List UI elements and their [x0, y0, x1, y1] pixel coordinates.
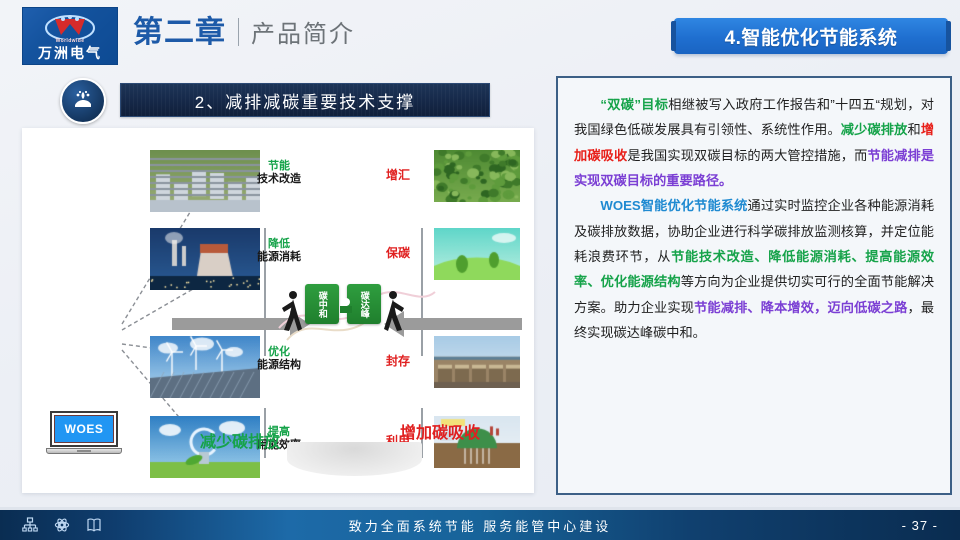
slide-footer: 致力全面系统节能 服务能管中心建设 - 37 - [0, 510, 960, 540]
label-line1: 节能 [234, 160, 324, 173]
diagram-card: 节能 技术改造 降低 能源消耗 优化 能源结构 提高 用能效率 增汇 [22, 128, 534, 493]
laptop-screen: WOES [50, 411, 118, 447]
carbon-peak-label: 碳达峰 [359, 291, 368, 318]
diagram-label-right-0: 增汇 [386, 166, 410, 183]
worker-figure-left-icon [280, 288, 304, 334]
photo-green-earth [434, 228, 520, 280]
section-title-text: 2、减排减碳重要技术支撑 [195, 88, 415, 113]
photo-storage-site [434, 336, 520, 388]
footer-slogan: 致力全面系统节能 服务能管中心建设 [0, 516, 960, 535]
description-panel: “双碳”目标相继被写入政府工作报告和”十四五“规划，对我国绿色低碳发展具有引领性… [556, 76, 952, 495]
section-title-bar: 2、减排减碳重要技术支撑 [120, 83, 490, 117]
woes-label: WOES [54, 415, 114, 443]
diagram-label-left-0: 节能 技术改造 [234, 160, 324, 185]
flow-label-increase-absorption: 增加碳吸收 [400, 419, 480, 443]
photo-forest-sink [434, 150, 520, 202]
text-run: WOES智能优化节能系统 [600, 198, 747, 213]
flow-label-reduce-emissions: 减少碳排放 [200, 428, 280, 452]
laptop-base [46, 448, 122, 454]
chapter-number: 第二章 [133, 18, 226, 48]
carbon-neutral-label: 碳中和 [317, 291, 326, 318]
panel-paragraph-1: “双碳”目标相继被写入政府工作报告和”十四五“规划，对我国绿色低碳发展具有引领性… [574, 92, 934, 193]
text-run: “双碳”目标 [600, 97, 668, 112]
text-run: 是我国实现双碳目标的两大管控措施，而 [627, 148, 867, 163]
diagram-label-left-1: 降低 能源消耗 [234, 238, 324, 263]
label-line2: 能源结构 [234, 359, 324, 372]
worker-figure-right-icon [382, 288, 406, 334]
text-run: 减少碳排放 [841, 122, 908, 137]
label-line2: 技术改造 [234, 173, 324, 186]
topic-badge[interactable]: 4.智能优化节能系统 [674, 18, 948, 54]
chapter-divider [238, 18, 239, 46]
carbon-neutral-box: 碳中和 [305, 284, 339, 324]
panel-paragraph-2: WOES智能优化节能系统通过实时监控企业各种能源消耗及碳排放数据，协助企业进行科… [574, 193, 934, 345]
chapter-heading: 第二章 产品简介 [133, 14, 355, 48]
logo-english-text: Worldwide [56, 38, 85, 44]
logo-w-mark [43, 13, 97, 39]
diagram-label-right-1: 保碳 [386, 244, 410, 261]
hand-leaf-icon [60, 78, 106, 124]
footer-page-number: - 37 - [902, 518, 938, 533]
woes-laptop-node[interactable]: WOES [48, 411, 120, 459]
company-logo: Worldwide 万洲电气 [22, 7, 118, 65]
topic-badge-label: 4.智能优化节能系统 [725, 23, 898, 50]
puzzle-link-icon [338, 296, 354, 314]
label-line1: 降低 [234, 238, 324, 251]
label-line2: 能源消耗 [234, 251, 324, 264]
diagram-ground [287, 442, 422, 476]
text-run: 节能减排、降本增效，迈向低碳之路 [694, 300, 907, 315]
logo-chinese-text: 万洲电气 [38, 46, 102, 60]
slide-root: Worldwide 万洲电气 第二章 产品简介 4.智能优化节能系统 2、减排减… [0, 0, 960, 540]
text-run: 和 [907, 122, 920, 137]
chapter-subtitle: 产品简介 [251, 23, 355, 47]
